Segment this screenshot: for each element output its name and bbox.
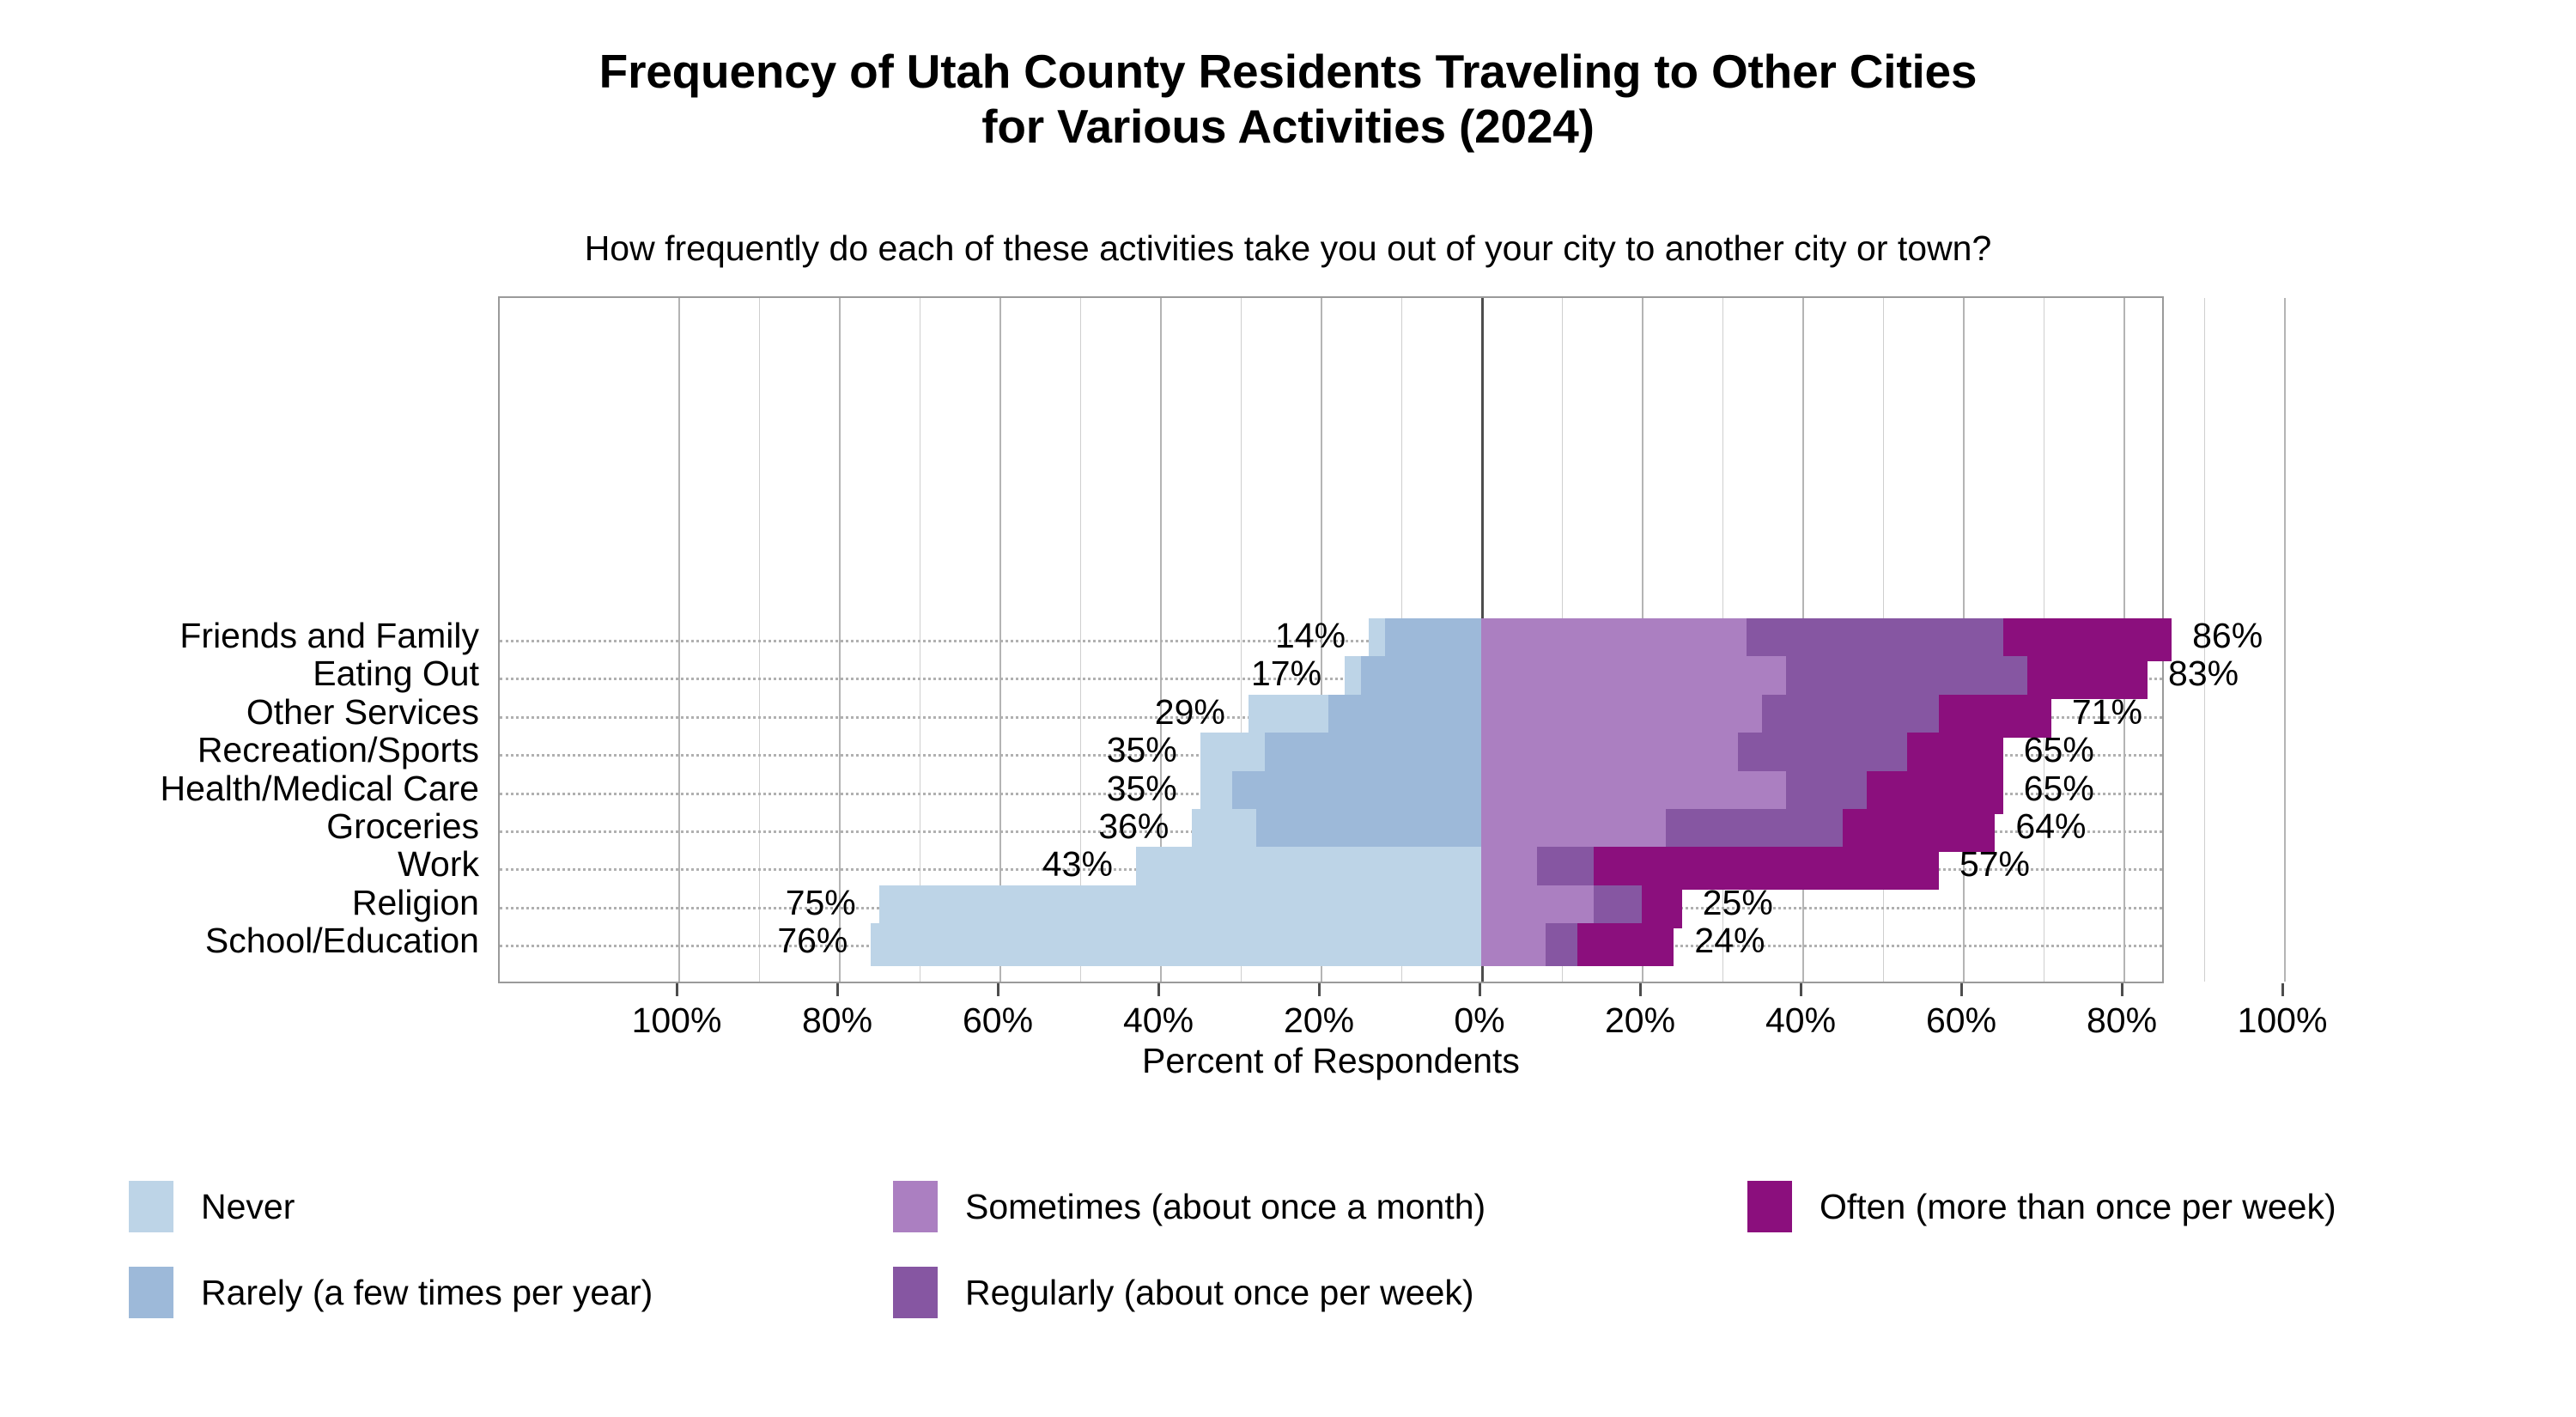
y-axis-category-label: Work: [398, 844, 498, 885]
bar-segment-often[interactable]: [1867, 771, 2003, 814]
y-axis-category-label: Recreation/Sports: [197, 730, 498, 770]
x-axis-tick: [676, 983, 678, 996]
x-axis-tick-label: 60%: [1926, 1000, 1996, 1041]
bar-segment-often[interactable]: [1642, 885, 1682, 928]
bar-segment-never[interactable]: [879, 885, 1481, 928]
bar-label-right-total: 86%: [2192, 616, 2263, 656]
legend-item[interactable]: Never: [129, 1181, 295, 1232]
x-axis-tick-label: 80%: [2087, 1000, 2157, 1041]
bar-segment-rarely[interactable]: [1265, 733, 1481, 775]
bar-label-left-total: 75%: [680, 883, 856, 923]
bar-segment-often[interactable]: [2003, 618, 2172, 661]
legend-label: Sometimes (about once a month): [965, 1187, 1485, 1227]
bar-segment-never[interactable]: [1136, 847, 1481, 890]
x-axis-tick: [2121, 983, 2123, 996]
bar-segment-sometimes[interactable]: [1481, 733, 1738, 775]
bar-segment-regularly[interactable]: [1747, 618, 2003, 661]
x-axis-tick-label: 80%: [802, 1000, 872, 1041]
bar-segment-never[interactable]: [1249, 695, 1329, 738]
chart-subtitle: How frequently do each of these activiti…: [0, 228, 2576, 269]
legend-swatch: [129, 1267, 173, 1318]
bar-segment-often[interactable]: [1577, 923, 1674, 966]
bar-segment-regularly[interactable]: [1666, 809, 1843, 852]
legend-swatch: [893, 1267, 938, 1318]
x-axis-tick-label: 0%: [1454, 1000, 1504, 1041]
bar-segment-rarely[interactable]: [1385, 618, 1481, 661]
bar-label-left-total: 36%: [993, 806, 1169, 847]
bar-segment-regularly[interactable]: [1786, 656, 2027, 699]
x-axis-tick: [1318, 983, 1321, 996]
bar-segment-rarely[interactable]: [1256, 809, 1481, 852]
bar-segment-often[interactable]: [1907, 733, 2003, 775]
bar-row[interactable]: [500, 656, 2162, 699]
bar-segment-never[interactable]: [1200, 733, 1265, 775]
legend-swatch: [1747, 1181, 1792, 1232]
bar-segment-never[interactable]: [871, 923, 1481, 966]
x-axis-tick: [1157, 983, 1160, 996]
bar-segment-regularly[interactable]: [1738, 733, 1906, 775]
bar-label-left-total: 43%: [937, 844, 1113, 885]
y-axis-category-label: Friends and Family: [179, 616, 498, 656]
x-axis-tick: [1639, 983, 1642, 996]
bar-label-right-total: 57%: [1959, 844, 2030, 885]
gridline-major: [2284, 298, 2286, 982]
x-axis-tick: [1960, 983, 1963, 996]
bar-label-left-total: 17%: [1145, 654, 1321, 694]
bar-segment-never[interactable]: [1200, 771, 1232, 814]
x-axis-tick-label: 100%: [632, 1000, 722, 1041]
chart-root: Frequency of Utah County Residents Trave…: [0, 0, 2576, 1417]
bar-segment-never[interactable]: [1345, 656, 1361, 699]
bar-label-right-total: 83%: [2168, 654, 2239, 694]
bar-label-right-total: 25%: [1703, 883, 1773, 923]
bar-segment-regularly[interactable]: [1762, 695, 1939, 738]
chart-title-line-2: for Various Activities (2024): [0, 100, 2576, 155]
x-axis-tick-label: 20%: [1605, 1000, 1675, 1041]
bar-row[interactable]: [500, 809, 2162, 852]
bar-segment-regularly[interactable]: [1537, 847, 1593, 890]
bar-label-right-total: 65%: [2024, 769, 2094, 809]
x-axis-tick: [1479, 983, 1481, 996]
bar-segment-sometimes[interactable]: [1481, 695, 1762, 738]
x-axis-tick-label: 60%: [963, 1000, 1033, 1041]
bar-segment-sometimes[interactable]: [1481, 847, 1537, 890]
y-axis-category-label: Other Services: [246, 692, 498, 733]
legend-swatch: [129, 1181, 173, 1232]
bar-label-left-total: 35%: [1001, 769, 1177, 809]
bar-row[interactable]: [500, 733, 2162, 775]
bar-segment-sometimes[interactable]: [1481, 923, 1546, 966]
legend-label: Often (more than once per week): [1820, 1187, 2336, 1227]
chart-legend: NeverRarely (a few times per year)Someti…: [0, 1181, 2576, 1370]
bar-label-left-total: 29%: [1049, 692, 1225, 733]
chart-title-line-1: Frequency of Utah County Residents Trave…: [0, 45, 2576, 100]
x-axis-tick-label: 100%: [2238, 1000, 2328, 1041]
x-axis-tick: [836, 983, 839, 996]
x-axis-title: Percent of Respondents: [498, 1041, 2164, 1081]
y-axis-category-label: Health/Medical Care: [161, 769, 498, 809]
bar-label-left-total: 14%: [1170, 616, 1346, 656]
x-axis-tick: [997, 983, 999, 996]
legend-item[interactable]: Regularly (about once per week): [893, 1267, 1474, 1318]
bar-segment-regularly[interactable]: [1786, 771, 1867, 814]
x-axis-tick: [2281, 983, 2284, 996]
bar-segment-sometimes[interactable]: [1481, 885, 1594, 928]
x-axis-tick-label: 40%: [1765, 1000, 1836, 1041]
y-axis-category-label: Eating Out: [313, 654, 498, 694]
chart-title: Frequency of Utah County Residents Trave…: [0, 45, 2576, 155]
x-axis-tick: [1800, 983, 1802, 996]
y-axis-category-label: Groceries: [326, 806, 498, 847]
bar-segment-sometimes[interactable]: [1481, 656, 1786, 699]
legend-swatch: [893, 1181, 938, 1232]
bar-segment-regularly[interactable]: [1546, 923, 1577, 966]
bar-row[interactable]: [500, 695, 2162, 738]
bar-row[interactable]: [500, 771, 2162, 814]
bar-label-right-total: 24%: [1694, 921, 1765, 961]
y-axis-category-label: School/Education: [205, 921, 498, 961]
x-axis-tick-label: 20%: [1284, 1000, 1354, 1041]
bar-segment-rarely[interactable]: [1232, 771, 1481, 814]
bar-label-right-total: 64%: [2015, 806, 2086, 847]
bar-segment-regularly[interactable]: [1594, 885, 1642, 928]
legend-item[interactable]: Sometimes (about once a month): [893, 1181, 1485, 1232]
legend-label: Regularly (about once per week): [965, 1273, 1474, 1313]
bar-segment-sometimes[interactable]: [1481, 809, 1666, 852]
bar-segment-rarely[interactable]: [1361, 656, 1481, 699]
legend-label: Rarely (a few times per year): [201, 1273, 653, 1313]
bar-segment-sometimes[interactable]: [1481, 771, 1786, 814]
legend-label: Never: [201, 1187, 295, 1227]
bar-label-right-total: 65%: [2024, 730, 2094, 770]
bar-label-left-total: 35%: [1001, 730, 1177, 770]
legend-item[interactable]: Rarely (a few times per year): [129, 1267, 653, 1318]
x-axis-tick-label: 40%: [1123, 1000, 1194, 1041]
bar-segment-never[interactable]: [1369, 618, 1385, 661]
bar-segment-rarely[interactable]: [1328, 695, 1481, 738]
bar-segment-sometimes[interactable]: [1481, 618, 1747, 661]
legend-item[interactable]: Often (more than once per week): [1747, 1181, 2336, 1232]
bar-label-right-total: 71%: [2072, 692, 2142, 733]
bar-label-left-total: 76%: [671, 921, 848, 961]
y-axis-category-label: Religion: [352, 883, 498, 923]
bar-segment-never[interactable]: [1192, 809, 1256, 852]
